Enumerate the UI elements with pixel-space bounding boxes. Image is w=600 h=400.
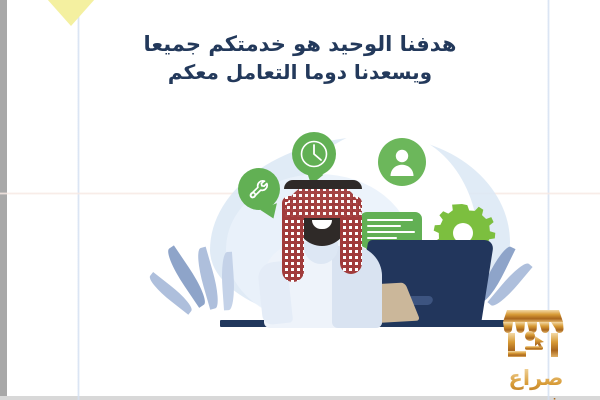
user-icon <box>378 138 426 186</box>
headline: هدفنا الوحيد هو خدمتكم جميعا ويسعدنا دوم… <box>0 30 600 86</box>
headline-line-1: هدفنا الوحيد هو خدمتكم جميعا <box>0 30 600 58</box>
yellow-triangle-decoration <box>47 0 95 26</box>
logo[interactable]: صراع خدمه <box>483 306 589 396</box>
agal <box>284 180 362 189</box>
clock-icon <box>292 132 336 176</box>
storefront-icon <box>497 306 569 364</box>
headline-line-2: ويسعدنا دوما التعامل معكم <box>0 58 600 86</box>
banner-image: هدفنا الوحيد هو خدمتكم جميعا ويسعدنا دوم… <box>0 0 600 400</box>
logo-text: صراع خدمه <box>483 366 589 400</box>
illustration <box>180 128 560 333</box>
person-illustration <box>258 180 388 328</box>
